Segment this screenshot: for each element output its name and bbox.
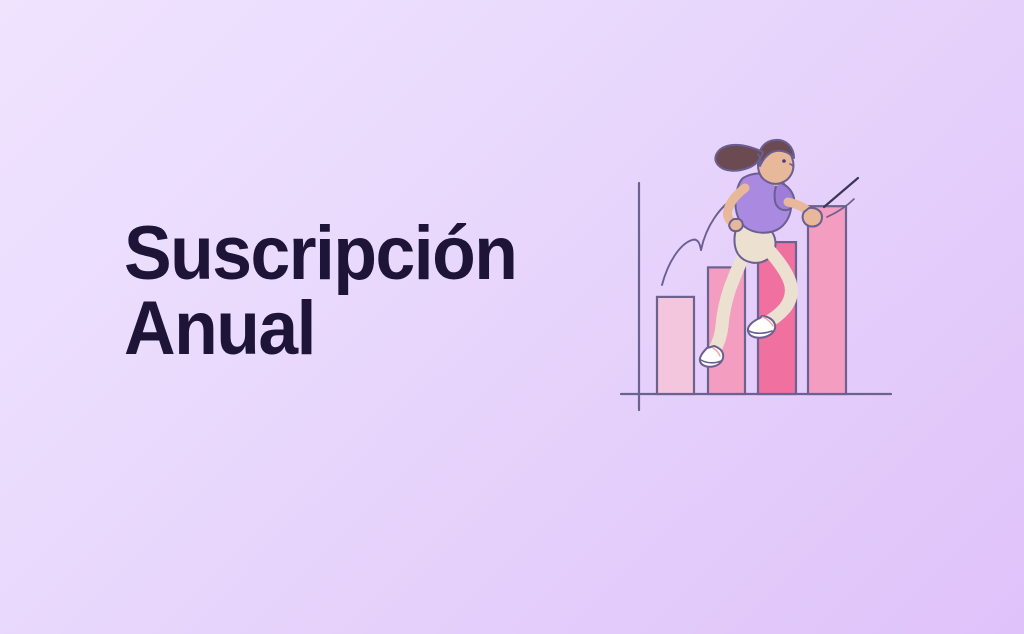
hand-back	[729, 219, 743, 231]
shoe-back	[700, 346, 723, 367]
running-woman	[700, 140, 822, 367]
shoe-front	[748, 316, 775, 338]
hand-front	[803, 208, 822, 227]
speed-line-long	[824, 178, 858, 207]
bar-1	[657, 297, 694, 394]
woman-running-up-bar-chart-icon	[600, 120, 910, 420]
page-title: Suscripción Anual	[124, 216, 528, 366]
bar-4	[808, 206, 846, 394]
ponytail	[715, 145, 763, 171]
promo-banner: Suscripción Anual	[0, 0, 1024, 634]
eye	[782, 159, 786, 163]
